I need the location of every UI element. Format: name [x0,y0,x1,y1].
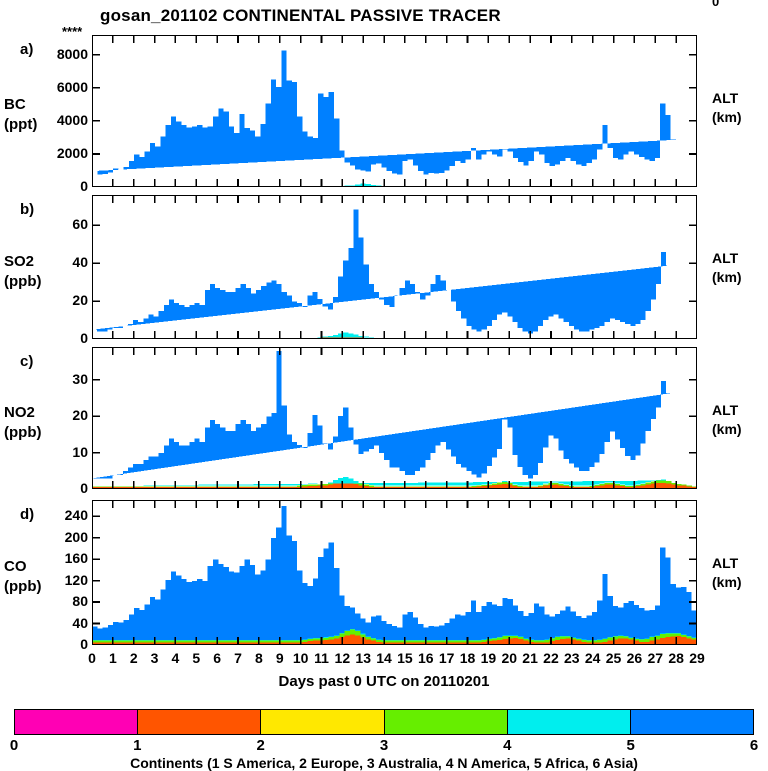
panel-frame [92,35,697,187]
y-tick-value: 80 [72,596,88,606]
colorbar-tick: 6 [734,737,768,754]
colorbar-segment-s-america[interactable] [15,710,138,734]
y-tick-value: 8000 [57,49,88,59]
plot-panel-no2 [92,347,697,489]
corner-glyph: 0 [712,0,719,7]
y-tick-value: 0 [80,181,88,191]
panel-tag-d: d) [20,506,34,523]
alt-label: ALT [712,250,738,266]
y-tick-label: 40 [32,257,88,267]
y-axis-unit: (ppt) [4,116,37,133]
alt-unit: (km) [712,421,742,437]
colorbar-tick: 2 [241,737,281,754]
panel-frame [92,347,697,489]
figure-title: gosan_201102 CONTINENTAL PASSIVE TRACER [100,6,501,26]
y-tick-label: 200 [32,532,88,542]
y-tick-label: 0 [32,639,88,649]
y-tick-value: 60 [72,219,88,229]
colorbar-tick: 1 [117,737,157,754]
y-tick-value: 40 [72,618,88,628]
y-tick-value: 0 [80,639,88,649]
colorbar-tick: 5 [611,737,651,754]
y-tick-label: 80 [32,596,88,606]
y-tick-value: 0 [80,483,88,493]
alt-unit: (km) [712,269,742,285]
alt-unit: (km) [712,109,742,125]
y-tick-value: 10 [72,447,88,457]
y-axis-unit: (ppb) [4,578,41,595]
y-tick-label: 60 [32,219,88,229]
y-tick-value: 40 [72,257,88,267]
y-tick-label: 0 [32,181,88,191]
y-tick-label: 240 [32,510,88,520]
colorbar-tick: 4 [487,737,527,754]
y-tick-value: 240 [65,510,88,520]
plot-panel-co [92,500,697,645]
y-tick-value: 0 [80,333,88,343]
colorbar-segment-asia[interactable] [631,710,753,734]
y-axis-name: SO2 [4,253,34,270]
colorbar-segment-n-america[interactable] [385,710,508,734]
y-tick-value: 6000 [57,82,88,92]
figure-canvas: 0 gosan_201102 CONTINENTAL PASSIVE TRACE… [0,0,768,768]
panel-tag-b: b) [20,201,34,218]
y-tick-label: 20 [32,410,88,420]
y-tick-value: 200 [65,532,88,542]
y-tick-label: 0 [32,483,88,493]
y-tick-value: 20 [72,410,88,420]
y-tick-value: 30 [72,374,88,384]
y-tick-label: 6000 [32,82,88,92]
y-tick-label: 8000 [32,49,88,59]
y-axis-unit: (ppb) [4,424,41,441]
y-axis-name: CO [4,558,27,575]
y-tick-label: 40 [32,618,88,628]
y-tick-label: 4000 [32,115,88,125]
y-tick-label: 10 [32,447,88,457]
y-tick-value: 4000 [57,115,88,125]
y-tick-label: 0 [32,333,88,343]
panel-frame [92,500,697,645]
y-axis-name: NO2 [4,404,35,421]
y-axis-unit: (ppb) [4,273,41,290]
panel-frame [92,195,697,339]
colorbar-segment-australia[interactable] [261,710,384,734]
y-tick-value: 20 [72,295,88,305]
alt-label: ALT [712,555,738,571]
alt-unit: (km) [712,574,742,590]
y-tick-value: 160 [65,553,88,563]
plot-panel-bc [92,35,697,187]
y-axis-name: BC [4,96,26,113]
panel-tag-a: a) [20,41,33,58]
y-tick-label: 2000 [32,148,88,158]
colorbar-segment-europe[interactable] [138,710,261,734]
alt-label: ALT [712,90,738,106]
panel-tag-c: c) [20,353,33,370]
colorbar-tick: 0 [0,737,34,754]
plot-panel-so2 [92,195,697,339]
overflow-marker: **** [62,24,82,39]
y-tick-value: 2000 [57,148,88,158]
continent-colorbar[interactable] [14,709,754,735]
x-axis-label: Days past 0 UTC on 20110201 [0,673,768,690]
y-tick-label: 160 [32,553,88,563]
x-tick-label: 29 [682,651,712,665]
colorbar-caption: Continents (1 S America, 2 Europe, 3 Aus… [0,755,768,771]
y-tick-label: 30 [32,374,88,384]
alt-label: ALT [712,402,738,418]
colorbar-segment-africa[interactable] [508,710,631,734]
y-tick-label: 20 [32,295,88,305]
colorbar-tick: 3 [364,737,404,754]
y-tick-value: 120 [65,575,88,585]
